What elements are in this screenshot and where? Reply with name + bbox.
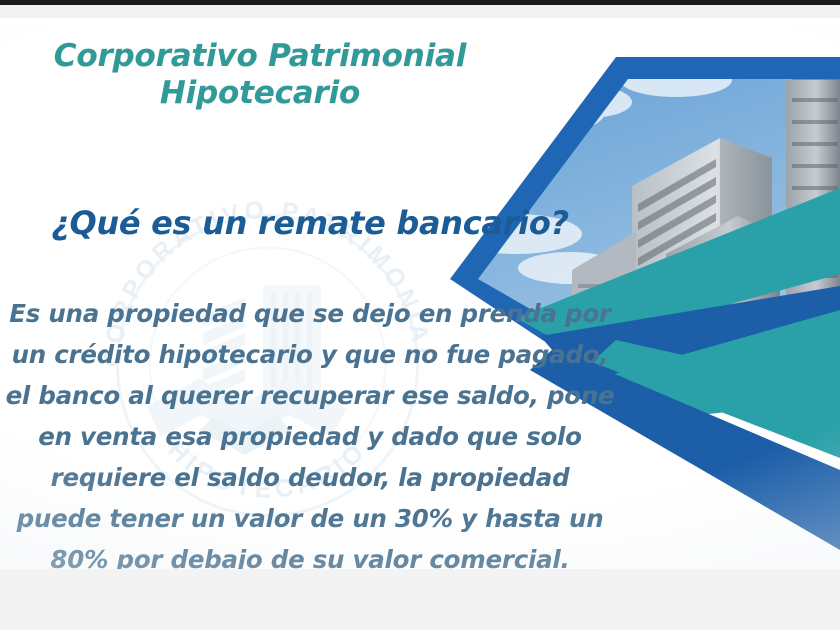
body-line: Es una propiedad que se dejo en prenda p… <box>0 293 620 334</box>
flyer-card: CORPORATIVO PATRIMONIAL HIPOTECARIO <box>0 18 840 569</box>
body-line: en venta esa propiedad y dado que solo <box>0 416 620 457</box>
body-line: un crédito hipotecario y que no fue paga… <box>0 334 620 375</box>
screenshot-stage: CORPORATIVO PATRIMONIAL HIPOTECARIO <box>0 0 840 630</box>
brand-title-line1: Corporativo Patrimonial <box>54 38 466 74</box>
brand-title-line2: Hipotecario <box>0 75 520 112</box>
text-column: Corporativo Patrimonial Hipotecario ¿Qué… <box>0 18 630 569</box>
brand-title: Corporativo Patrimonial Hipotecario <box>0 38 520 111</box>
letterbox-bottom-gray-bar <box>0 569 840 630</box>
letterbox-top-gray-bar <box>0 5 840 18</box>
body-paragraph: Es una propiedad que se dejo en prenda p… <box>0 293 620 569</box>
body-line: el banco al querer recuperar ese saldo, … <box>0 375 620 416</box>
page-title: ¿Qué es un remate bancario? <box>0 204 620 242</box>
body-line: 80% por debajo de su valor comercial. <box>0 539 620 569</box>
body-line: puede tener un valor de un 30% y hasta u… <box>0 498 620 539</box>
body-line: requiere el saldo deudor, la propiedad <box>0 457 620 498</box>
